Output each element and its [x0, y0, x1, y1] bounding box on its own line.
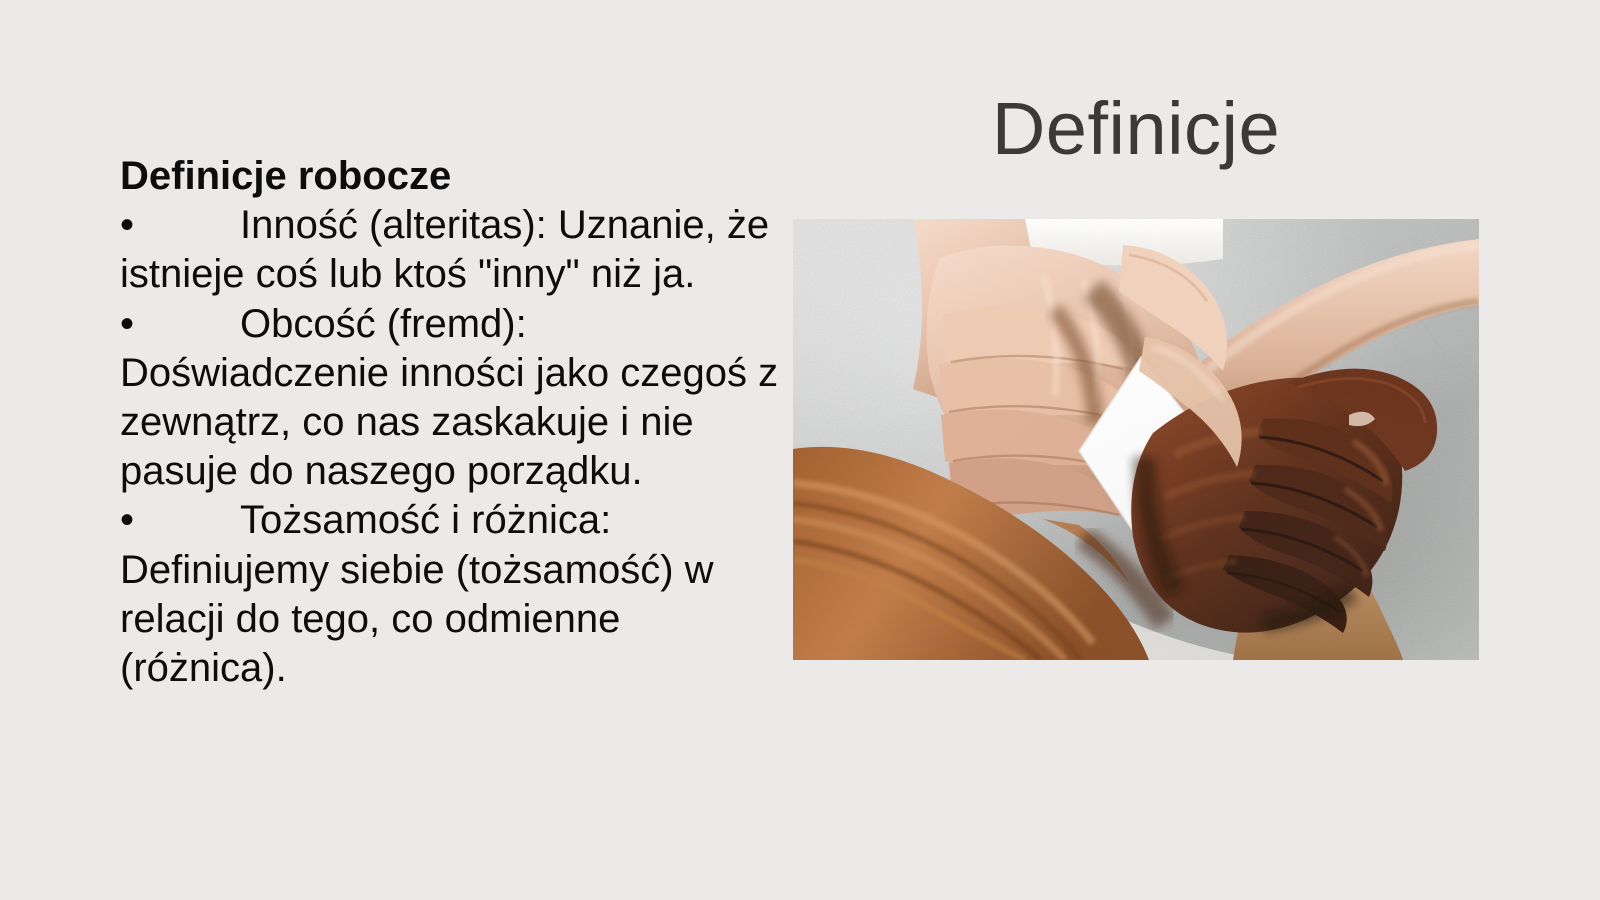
- bullet-icon: •: [120, 300, 240, 349]
- slide-canvas: Definicje Definicje robocze •Inność (alt…: [0, 0, 1600, 900]
- bullet-icon: •: [120, 496, 240, 545]
- bullet-icon: •: [120, 201, 240, 250]
- photo-vignette: [793, 219, 1479, 660]
- list-item: •Tożsamość i różnica: Definiujemy siebie…: [120, 496, 780, 693]
- body-text-block: Definicje robocze •Inność (alteritas): U…: [120, 152, 780, 693]
- hands-illustration: [793, 219, 1479, 660]
- list-item: •Inność (alteritas): Uznanie, że istniej…: [120, 201, 780, 299]
- slide-image-hands-clasped: [793, 219, 1479, 660]
- body-heading: Definicje robocze: [120, 152, 780, 201]
- list-item: •Obcość (fremd): Doświadczenie inności j…: [120, 300, 780, 497]
- page-title: Definicje: [793, 86, 1479, 172]
